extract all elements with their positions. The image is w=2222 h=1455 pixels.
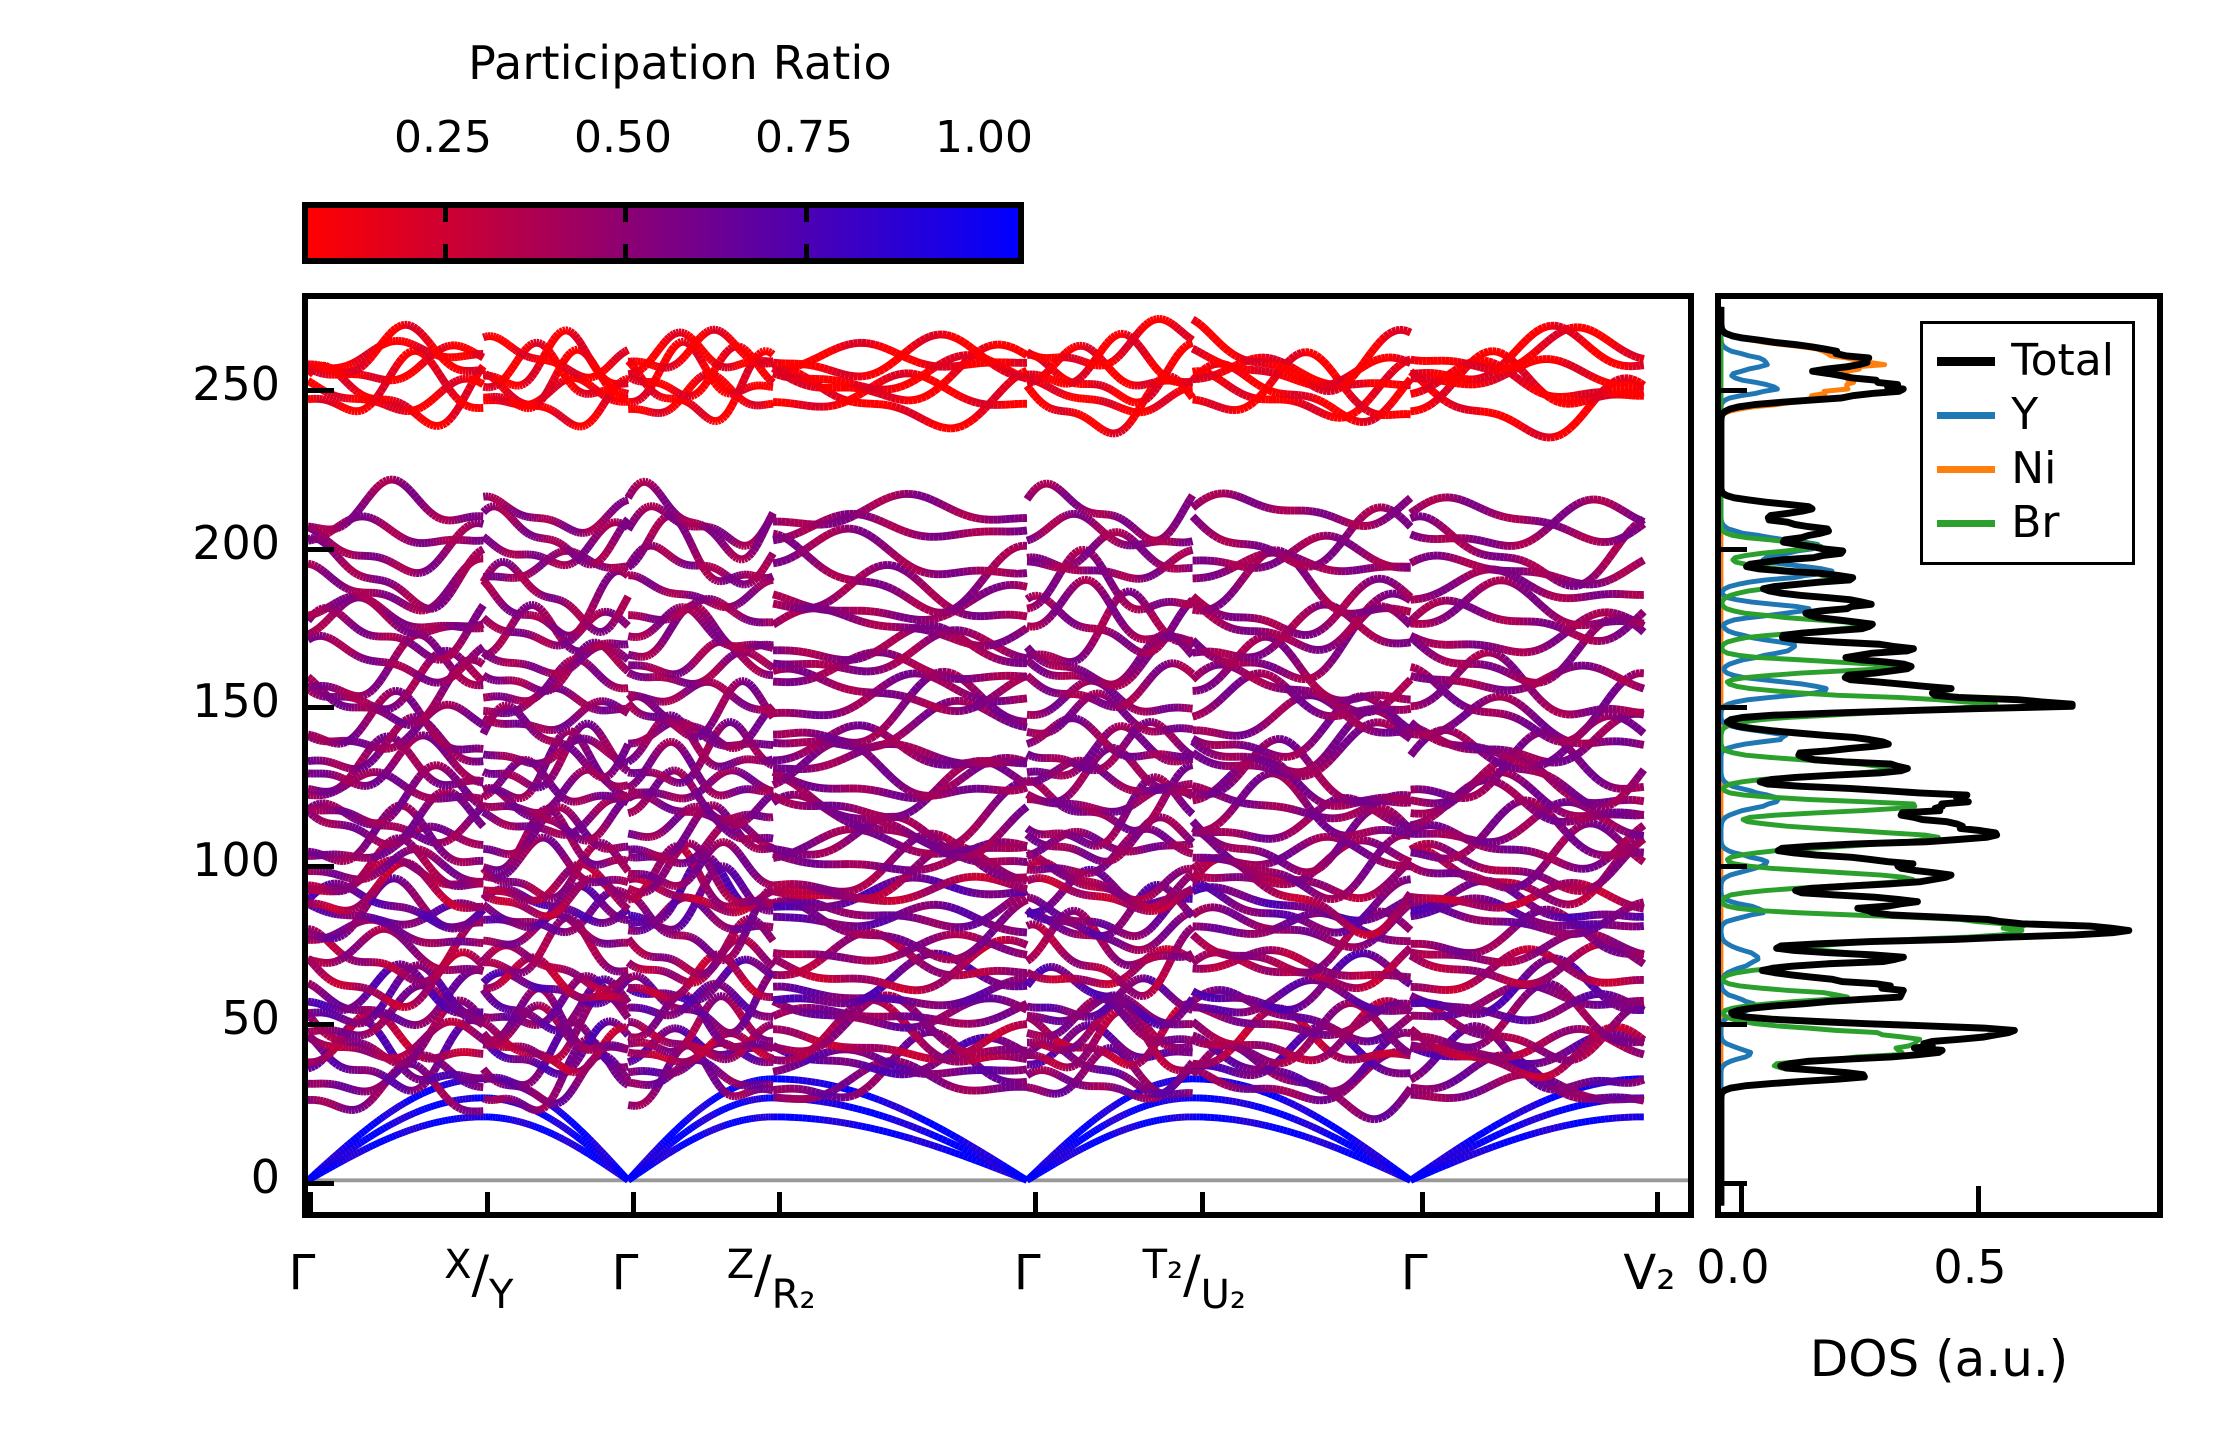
legend-label-total: Total: [2011, 339, 2114, 383]
legend-item-br[interactable]: Br: [1937, 496, 2114, 550]
y-tick: [308, 864, 334, 869]
x-tick-label: X/Y: [444, 1245, 513, 1305]
dos-y-tick: [1721, 1022, 1747, 1027]
x-tick-label: T₂/U₂: [1143, 1245, 1246, 1305]
colorbar-gradient: [308, 208, 1018, 258]
colorbar-tick: [804, 244, 809, 258]
y-tick-label: 200: [192, 516, 280, 570]
dos-x-tick-labels: 0.0 0.5: [1715, 1240, 2163, 1310]
y-tick: [308, 1022, 334, 1027]
x-tick: [631, 1192, 636, 1218]
dos-y-tick: [1721, 864, 1747, 869]
colorbar-tick-label: 1.00: [935, 112, 1033, 163]
x-axis-tick-labels: ΓX/YΓZ/R₂ΓT₂/U₂ΓV₂: [302, 1245, 1694, 1375]
y-axis-tick-labels: 250 200 150 100 50 0: [100, 293, 280, 1218]
legend-label-ni: Ni: [2011, 447, 2056, 491]
x-tick: [485, 1192, 490, 1218]
y-tick: [308, 1181, 334, 1186]
colorbar-tick: [623, 208, 628, 222]
y-tick-label: 50: [221, 991, 280, 1045]
dos-x-axis-title: DOS (a.u.): [1715, 1330, 2163, 1388]
x-tick-label: Γ: [289, 1245, 316, 1301]
colorbar-tick-labels: 0.25 0.50 0.75 1.00: [300, 112, 1060, 162]
colorbar-tick-label: 0.50: [574, 112, 672, 163]
x-tick: [1655, 1192, 1660, 1218]
dos-y-tick: [1721, 705, 1747, 710]
participation-ratio-colorbar: [302, 202, 1024, 264]
phonon-band-dos-figure: Participation Ratio 0.25 0.50 0.75 1.00 …: [0, 0, 2222, 1455]
dos-legend: Total Y Ni Br: [1920, 321, 2135, 565]
y-tick-label: 150: [192, 674, 280, 728]
dos-x-tick: [1976, 1186, 1981, 1212]
y-tick-label: 0: [251, 1150, 280, 1204]
y-tick-label: 100: [192, 833, 280, 887]
x-tick-label: Γ: [1401, 1245, 1428, 1301]
colorbar-title: Participation Ratio: [300, 36, 1060, 90]
y-tick: [308, 705, 334, 710]
y-tick: [308, 388, 334, 393]
legend-swatch-total: [1937, 357, 1995, 366]
y-tick: [308, 547, 334, 552]
colorbar-tick-label: 0.75: [755, 112, 853, 163]
legend-label-y: Y: [2011, 393, 2038, 437]
x-tick-label: V₂: [1623, 1245, 1675, 1301]
x-tick-label: Γ: [1014, 1245, 1041, 1301]
x-tick: [308, 1192, 313, 1218]
legend-label-br: Br: [2011, 501, 2059, 545]
colorbar-tick: [623, 244, 628, 258]
legend-item-ni[interactable]: Ni: [1937, 442, 2114, 496]
legend-item-y[interactable]: Y: [1937, 388, 2114, 442]
dos-x-tick-label: 0.0: [1696, 1240, 1769, 1294]
legend-swatch-y: [1937, 412, 1995, 419]
x-tick-label: Z/R₂: [727, 1245, 816, 1305]
band-structure-curves: [308, 299, 1688, 1212]
legend-swatch-ni: [1937, 466, 1995, 473]
legend-item-total[interactable]: Total: [1937, 334, 2114, 388]
x-tick: [777, 1192, 782, 1218]
dos-y-tick: [1721, 547, 1747, 552]
y-tick-label: 250: [192, 357, 280, 411]
colorbar-tick: [443, 208, 448, 222]
legend-swatch-br: [1937, 520, 1995, 527]
x-tick: [1420, 1192, 1425, 1218]
colorbar-tick: [804, 208, 809, 222]
phonon-dos-plot[interactable]: Total Y Ni Br: [1715, 293, 2163, 1218]
phonon-band-structure-plot[interactable]: [302, 293, 1694, 1218]
x-tick: [1033, 1192, 1038, 1218]
dos-y-tick: [1721, 388, 1747, 393]
colorbar-tick: [443, 244, 448, 258]
colorbar-tick-label: 0.25: [394, 112, 492, 163]
x-tick-label: Γ: [612, 1245, 639, 1301]
x-tick: [1200, 1192, 1205, 1218]
dos-x-tick: [1739, 1186, 1744, 1212]
dos-x-tick-label: 0.5: [1933, 1240, 2006, 1294]
